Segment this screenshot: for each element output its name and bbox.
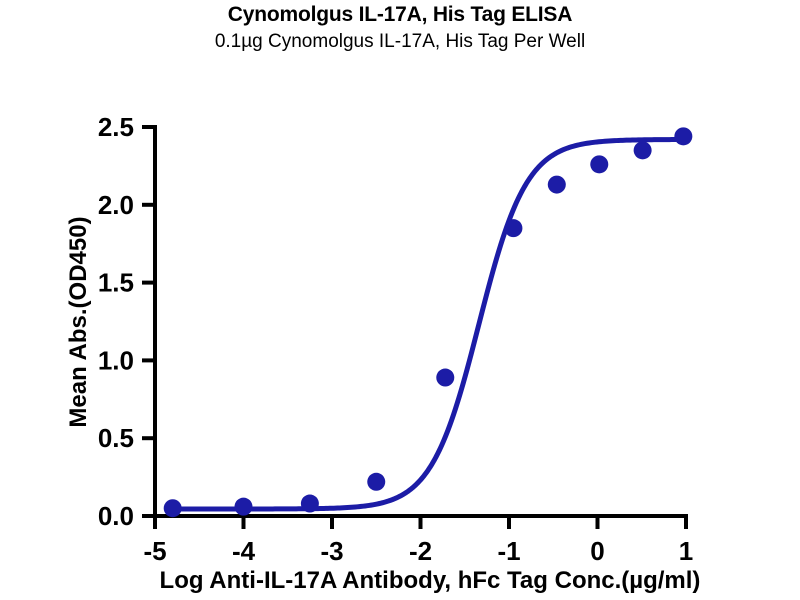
x-axis-title: Log Anti-IL-17A Antibody, hFc Tag Conc.(… xyxy=(160,567,701,594)
data-point xyxy=(235,498,253,516)
y-axis-title: Mean Abs.(OD450) xyxy=(65,216,92,427)
y-tick-label: 1.0 xyxy=(98,345,134,375)
y-tick-label: 2.5 xyxy=(98,112,134,142)
data-point xyxy=(634,141,652,159)
y-tick-label: 0.0 xyxy=(98,501,134,531)
x-tick-label: -4 xyxy=(232,536,256,566)
elisa-chart-figure: Cynomolgus IL-17A, His Tag ELISA 0.1µg C… xyxy=(0,0,800,600)
y-axis-tick-labels: 0.00.51.01.52.02.5 xyxy=(98,112,134,531)
data-point xyxy=(301,495,319,513)
sigmoid-fit-curve xyxy=(173,140,684,509)
data-points-group xyxy=(164,127,693,517)
y-tick-label: 0.5 xyxy=(98,423,134,453)
plot-area: -5-4-3-2-101 0.00.51.01.52.02.5 Log Anti… xyxy=(0,0,800,600)
data-point xyxy=(164,499,182,517)
x-tick-label: -2 xyxy=(409,536,432,566)
x-tick-label: -5 xyxy=(143,536,166,566)
data-point xyxy=(548,176,566,194)
x-axis-tick-labels: -5-4-3-2-101 xyxy=(143,536,693,566)
data-point xyxy=(674,127,692,145)
x-tick-label: -1 xyxy=(497,536,520,566)
x-tick-label: 1 xyxy=(679,536,693,566)
y-tick-label: 1.5 xyxy=(98,268,134,298)
x-tick-label: 0 xyxy=(590,536,604,566)
data-point xyxy=(504,219,522,237)
x-tick-label: -3 xyxy=(320,536,343,566)
data-point xyxy=(590,155,608,173)
axis-spines xyxy=(155,127,686,516)
data-point xyxy=(367,473,385,491)
y-tick-label: 2.0 xyxy=(98,190,134,220)
data-point xyxy=(436,369,454,387)
